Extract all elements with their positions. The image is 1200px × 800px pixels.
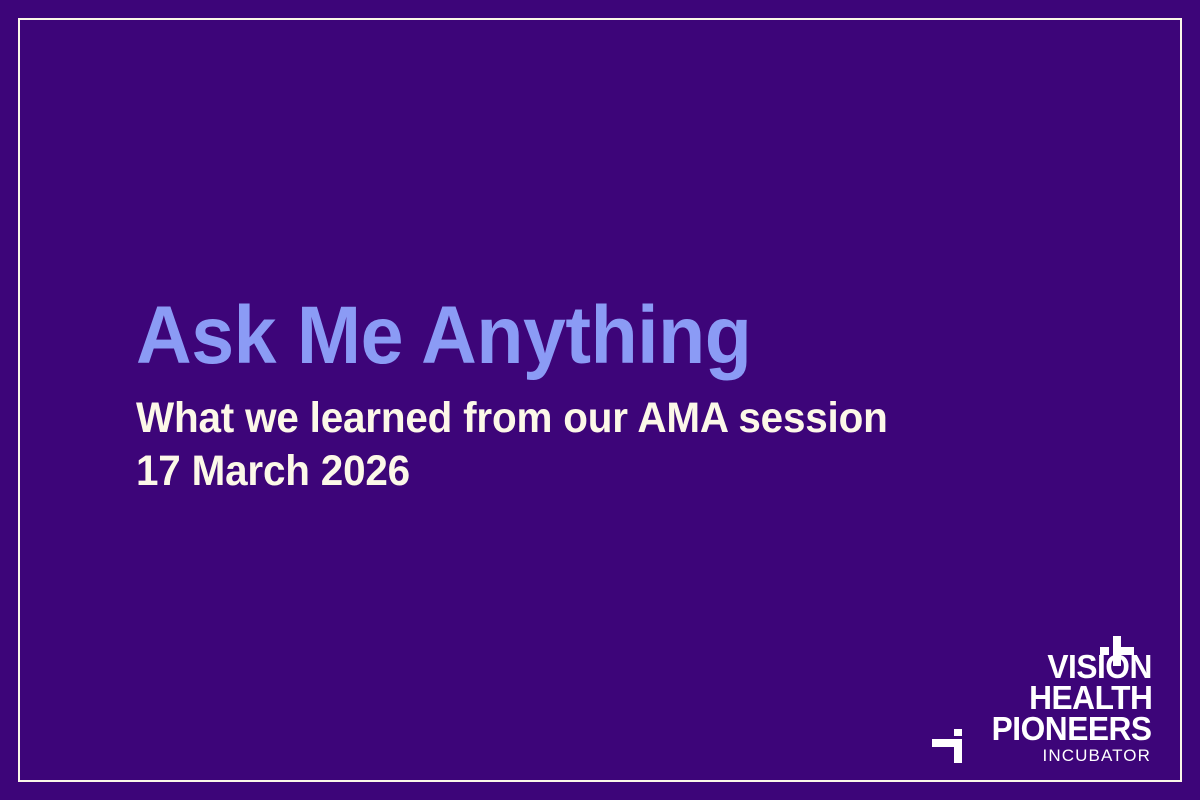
logo-tagline-incubator: INCUBATOR (1043, 746, 1151, 766)
slide-subtitle-line-1: What we learned from our AMA session (136, 392, 982, 445)
slide-subtitle-date: 17 March 2026 (136, 445, 982, 498)
logo-line-pioneers: PIONEERS (992, 712, 1152, 745)
pixel-cross-icon-secondary (932, 729, 968, 763)
presentation-slide: Ask Me Anything What we learned from our… (0, 0, 1200, 800)
slide-text-block: Ask Me Anything What we learned from our… (136, 296, 1036, 498)
vision-health-pioneers-logo: VISION HEALTH PIONEERS INCUBATOR (922, 636, 1152, 766)
page-title: Ask Me Anything (136, 296, 982, 376)
